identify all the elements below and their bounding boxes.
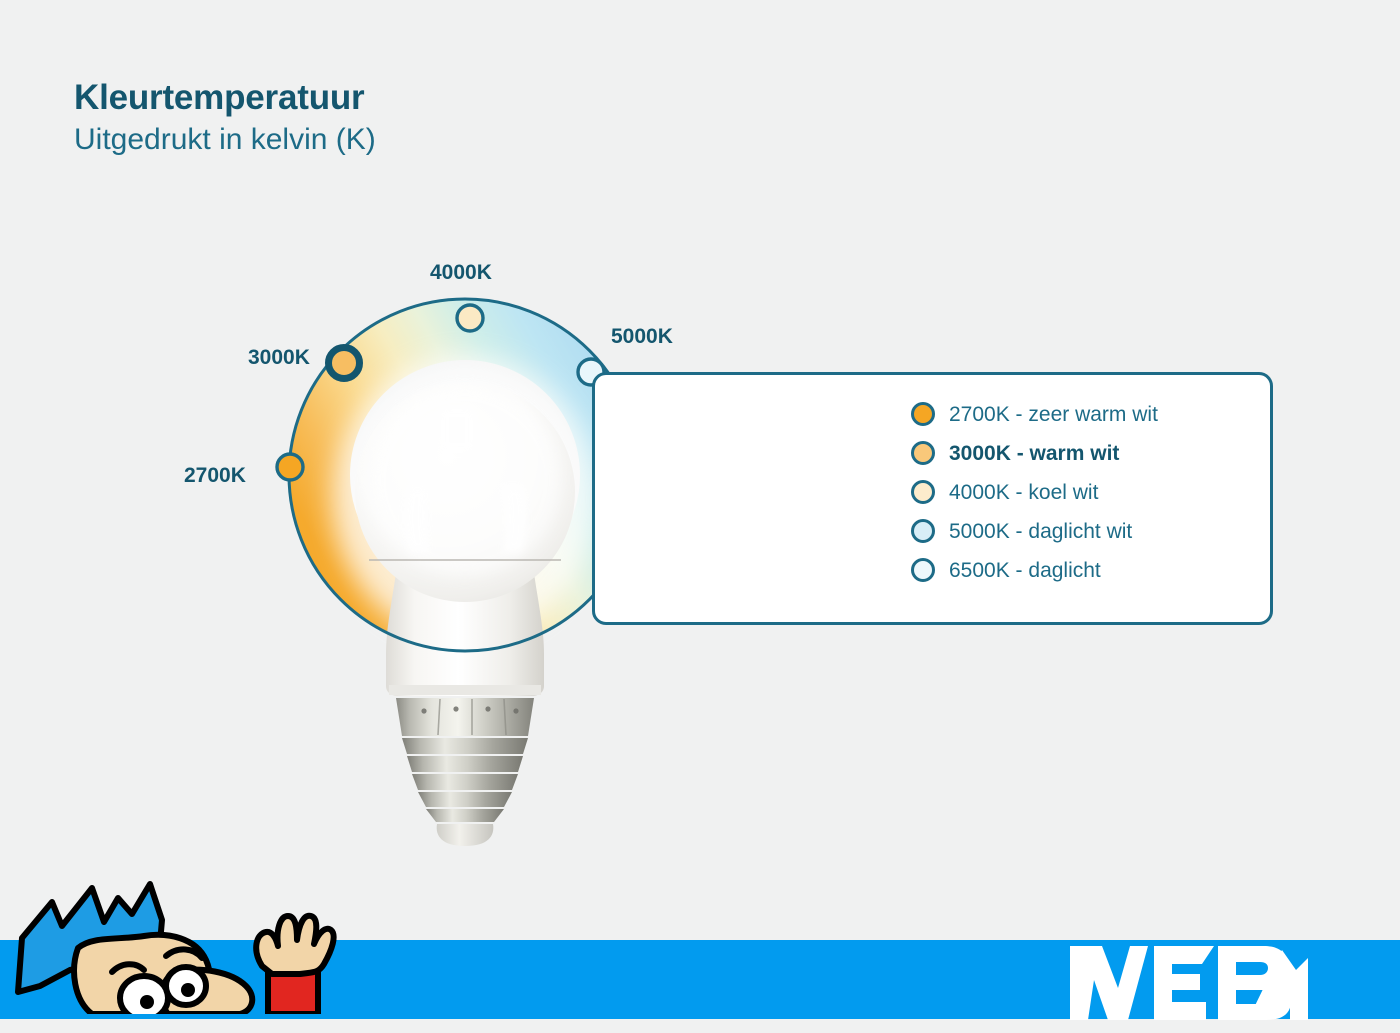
- legend-swatch-5000k: [911, 519, 935, 543]
- legend-item-4000k[interactable]: 4000K - koel wit: [911, 477, 1158, 507]
- arc-label-2700k: 2700K: [184, 464, 246, 487]
- weba-mascot: [0, 874, 360, 1019]
- legend-label-6500k: 6500K - daglicht: [949, 560, 1101, 581]
- legend-swatch-2700k: [911, 402, 935, 426]
- arc-label-5000k: 5000K: [611, 325, 673, 348]
- legend-swatch-6500k: [911, 558, 935, 582]
- marker-3000k-selected: [329, 348, 360, 379]
- legend-callout-box: 2700K - zeer warm wit 3000K - warm wit 4…: [592, 372, 1273, 625]
- heading-block: Kleurtemperatuur Uitgedrukt in kelvin (K…: [74, 78, 376, 158]
- bulb-e27-base: [396, 698, 534, 846]
- legend-swatch-3000k: [911, 441, 935, 465]
- legend-item-5000k[interactable]: 5000K - daglicht wit: [911, 516, 1158, 546]
- page-subtitle: Uitgedrukt in kelvin (K): [74, 123, 376, 158]
- legend-item-6500k[interactable]: 6500K - daglicht: [911, 555, 1158, 585]
- marker-4000k: [457, 305, 483, 331]
- weba-logo: [1068, 936, 1308, 1033]
- infographic-canvas: Kleurtemperatuur Uitgedrukt in kelvin (K…: [0, 0, 1400, 1019]
- legend-list: 2700K - zeer warm wit 3000K - warm wit 4…: [911, 399, 1158, 585]
- legend-item-2700k[interactable]: 2700K - zeer warm wit: [911, 399, 1158, 429]
- legend-label-2700k: 2700K - zeer warm wit: [949, 404, 1158, 425]
- arc-label-4000k: 4000K: [430, 261, 492, 284]
- legend-label-4000k: 4000K - koel wit: [949, 482, 1098, 503]
- legend-label-3000k: 3000K - warm wit: [949, 443, 1119, 464]
- page-title: Kleurtemperatuur: [74, 78, 376, 117]
- arc-label-3000k: 3000K: [248, 346, 310, 369]
- legend-swatch-4000k: [911, 480, 935, 504]
- legend-item-3000k[interactable]: 3000K - warm wit: [911, 438, 1158, 468]
- marker-2700k: [277, 454, 303, 480]
- legend-label-5000k: 5000K - daglicht wit: [949, 521, 1132, 542]
